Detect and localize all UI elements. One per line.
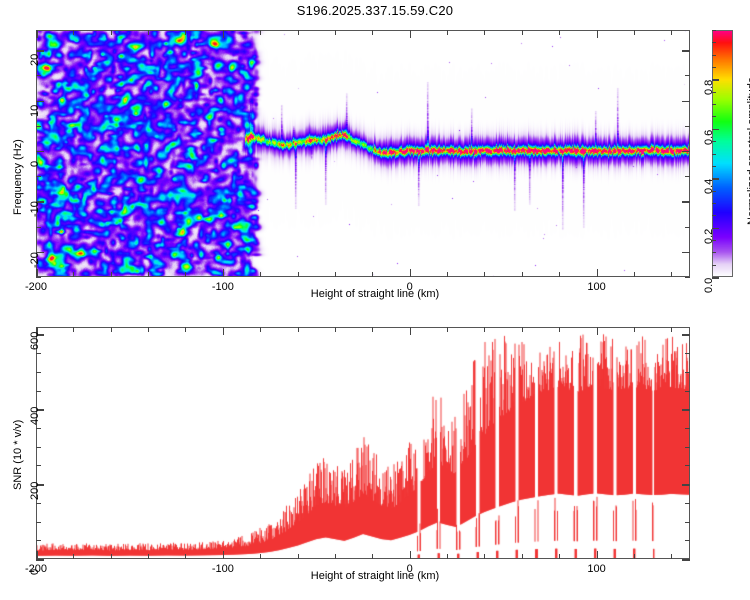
x-minor-tick — [185, 272, 186, 277]
x-minor-tick — [260, 554, 261, 559]
x-minor-tick — [634, 327, 635, 332]
y-minor-tick — [36, 428, 41, 429]
y-minor-tick — [36, 126, 41, 127]
y-major-tick — [682, 559, 690, 561]
x-minor-tick — [148, 327, 149, 332]
y-minor-tick — [685, 522, 690, 523]
x-minor-tick — [148, 554, 149, 559]
colorbar-tick-label: 0.4 — [703, 179, 715, 194]
x-minor-tick — [185, 554, 186, 559]
y-minor-tick — [685, 227, 690, 228]
snr-y-axis-title: SNR (10 * v/v) — [12, 420, 24, 490]
x-minor-tick — [73, 327, 74, 332]
colorbar-minor-tick — [712, 42, 716, 43]
x-minor-tick — [634, 554, 635, 559]
x-minor-tick — [298, 554, 299, 559]
x-minor-tick — [447, 272, 448, 277]
x-minor-tick — [484, 327, 485, 332]
x-major-tick — [410, 30, 412, 38]
y-minor-tick — [685, 176, 690, 177]
y-minor-tick — [36, 540, 41, 541]
colorbar-minor-tick — [712, 252, 716, 253]
y-minor-tick — [36, 391, 41, 392]
x-minor-tick — [447, 327, 448, 332]
y-minor-tick — [36, 522, 41, 523]
x-major-tick — [597, 327, 599, 335]
y-minor-tick — [36, 372, 41, 373]
x-major-tick — [410, 551, 412, 559]
x-minor-tick — [298, 272, 299, 277]
colorbar-minor-tick — [712, 203, 716, 204]
snr-x-axis-title: Height of straight line (km) — [0, 570, 750, 582]
x-minor-tick — [484, 30, 485, 35]
x-minor-tick — [484, 554, 485, 559]
y-minor-tick — [685, 277, 690, 278]
x-minor-tick — [148, 272, 149, 277]
x-major-tick — [410, 269, 412, 277]
y-tick-label: 20 — [29, 34, 41, 66]
x-minor-tick — [634, 30, 635, 35]
colorbar-tick-label: 0.8 — [703, 80, 715, 95]
y-minor-tick — [36, 277, 41, 278]
x-minor-tick — [671, 30, 672, 35]
x-major-tick — [597, 551, 599, 559]
x-minor-tick — [335, 30, 336, 35]
y-tick-label: -10 — [29, 185, 41, 217]
y-tick-label: 10 — [29, 85, 41, 117]
x-minor-tick — [484, 272, 485, 277]
y-tick-label: 200 — [29, 468, 41, 500]
y-tick-label: 600 — [29, 318, 41, 350]
y-minor-tick — [685, 465, 690, 466]
x-minor-tick — [260, 30, 261, 35]
y-minor-tick — [685, 447, 690, 448]
x-minor-tick — [335, 554, 336, 559]
figure-root: S196.2025.337.15.59.C20 -200-1000100-20-… — [0, 0, 750, 600]
x-minor-tick — [372, 272, 373, 277]
y-minor-tick — [36, 353, 41, 354]
x-minor-tick — [260, 327, 261, 332]
x-minor-tick — [447, 30, 448, 35]
x-minor-tick — [447, 554, 448, 559]
spectrogram-x-axis-title: Height of straight line (km) — [0, 288, 750, 300]
spectrogram-y-axis-title: Frequency (Hz) — [12, 139, 24, 215]
spectrogram-plot-frame — [36, 30, 690, 277]
colorbar-tick-label: 0.2 — [703, 228, 715, 243]
x-minor-tick — [671, 554, 672, 559]
x-minor-tick — [73, 272, 74, 277]
colorbar-minor-tick — [712, 67, 716, 68]
x-minor-tick — [111, 327, 112, 332]
x-major-tick — [410, 327, 412, 335]
x-minor-tick — [372, 327, 373, 332]
x-minor-tick — [185, 30, 186, 35]
y-minor-tick — [685, 126, 690, 127]
y-minor-tick — [685, 372, 690, 373]
x-minor-tick — [671, 272, 672, 277]
x-minor-tick — [522, 30, 523, 35]
x-major-tick — [597, 30, 599, 38]
colorbar-minor-tick — [712, 166, 716, 167]
colorbar-minor-tick — [712, 116, 716, 117]
x-major-tick — [597, 269, 599, 277]
x-major-tick — [223, 269, 225, 277]
snr-plot-frame — [36, 327, 690, 559]
y-minor-tick — [685, 75, 690, 76]
colorbar-tick-label: 0.0 — [703, 278, 715, 293]
y-minor-tick — [36, 75, 41, 76]
y-minor-tick — [36, 227, 41, 228]
y-minor-tick — [685, 428, 690, 429]
colorbar-minor-tick — [712, 30, 716, 31]
y-tick-label: 0 — [29, 135, 41, 167]
x-minor-tick — [260, 272, 261, 277]
colorbar-tick-label: 0.6 — [703, 130, 715, 145]
x-minor-tick — [73, 554, 74, 559]
x-major-tick — [223, 551, 225, 559]
colorbar-minor-tick — [712, 55, 716, 56]
x-minor-tick — [559, 327, 560, 332]
y-major-tick — [682, 484, 690, 486]
x-major-tick — [223, 30, 225, 38]
x-minor-tick — [522, 554, 523, 559]
x-major-tick — [36, 269, 38, 277]
y-minor-tick — [685, 391, 690, 392]
x-minor-tick — [559, 30, 560, 35]
y-major-tick — [682, 334, 690, 336]
x-minor-tick — [522, 327, 523, 332]
y-major-tick — [682, 101, 690, 103]
y-minor-tick — [36, 176, 41, 177]
colorbar-label: Normalized spectral amplitude — [746, 77, 750, 225]
x-major-tick — [223, 327, 225, 335]
y-minor-tick — [685, 503, 690, 504]
colorbar-minor-tick — [712, 104, 716, 105]
colorbar-minor-tick — [712, 154, 716, 155]
y-major-tick — [682, 50, 690, 52]
y-minor-tick — [685, 353, 690, 354]
x-minor-tick — [559, 272, 560, 277]
x-minor-tick — [335, 272, 336, 277]
x-minor-tick — [148, 30, 149, 35]
x-minor-tick — [372, 30, 373, 35]
y-minor-tick — [36, 465, 41, 466]
x-minor-tick — [111, 554, 112, 559]
x-minor-tick — [522, 272, 523, 277]
x-minor-tick — [335, 327, 336, 332]
x-minor-tick — [671, 327, 672, 332]
y-major-tick — [682, 409, 690, 411]
y-tick-label: -20 — [29, 236, 41, 268]
colorbar-minor-tick — [712, 265, 716, 266]
y-tick-label: 400 — [29, 393, 41, 425]
y-major-tick — [682, 201, 690, 203]
y-minor-tick — [685, 540, 690, 541]
figure-title: S196.2025.337.15.59.C20 — [0, 3, 750, 18]
y-minor-tick — [36, 447, 41, 448]
x-minor-tick — [298, 30, 299, 35]
x-minor-tick — [111, 30, 112, 35]
x-minor-tick — [372, 554, 373, 559]
x-minor-tick — [111, 272, 112, 277]
x-minor-tick — [298, 327, 299, 332]
y-major-tick — [682, 252, 690, 254]
colorbar-minor-tick — [712, 215, 716, 216]
x-minor-tick — [559, 554, 560, 559]
x-minor-tick — [73, 30, 74, 35]
y-minor-tick — [36, 503, 41, 504]
y-major-tick — [682, 151, 690, 153]
x-minor-tick — [185, 327, 186, 332]
x-minor-tick — [634, 272, 635, 277]
